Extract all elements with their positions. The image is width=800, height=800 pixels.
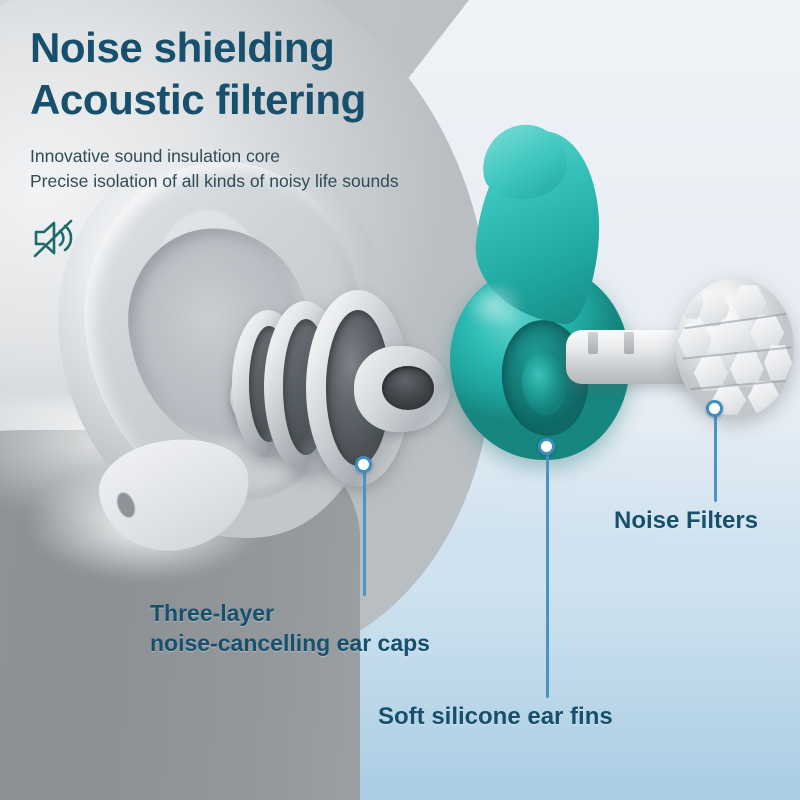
noise-filter-notch (588, 332, 598, 354)
ear-fin-highlight (466, 285, 536, 343)
noise-filter-disc (676, 278, 794, 418)
noise-filter-part (566, 278, 796, 418)
product-infographic: Noise shielding Acoustic filtering Innov… (0, 0, 800, 800)
page-subtitle: Innovative sound insulation core Precise… (30, 144, 399, 194)
leader-line-ear-fins (546, 450, 549, 698)
leader-line-noise-filters (714, 412, 717, 502)
callout-noise-filters: Noise Filters (614, 506, 758, 536)
mute-speaker-icon (30, 216, 76, 260)
leader-dot-ear-fins (538, 438, 555, 455)
ear-cap-bore (382, 366, 434, 410)
leader-line-ear-caps (363, 468, 366, 596)
noise-filter-notch (624, 332, 634, 354)
leader-dot-ear-caps (355, 456, 372, 473)
callout-ear-caps: Three-layer noise-cancelling ear caps (150, 598, 430, 658)
callout-ear-fins: Soft silicone ear fins (378, 702, 613, 732)
page-title: Noise shielding Acoustic filtering (30, 22, 366, 126)
leader-dot-noise-filters (706, 400, 723, 417)
